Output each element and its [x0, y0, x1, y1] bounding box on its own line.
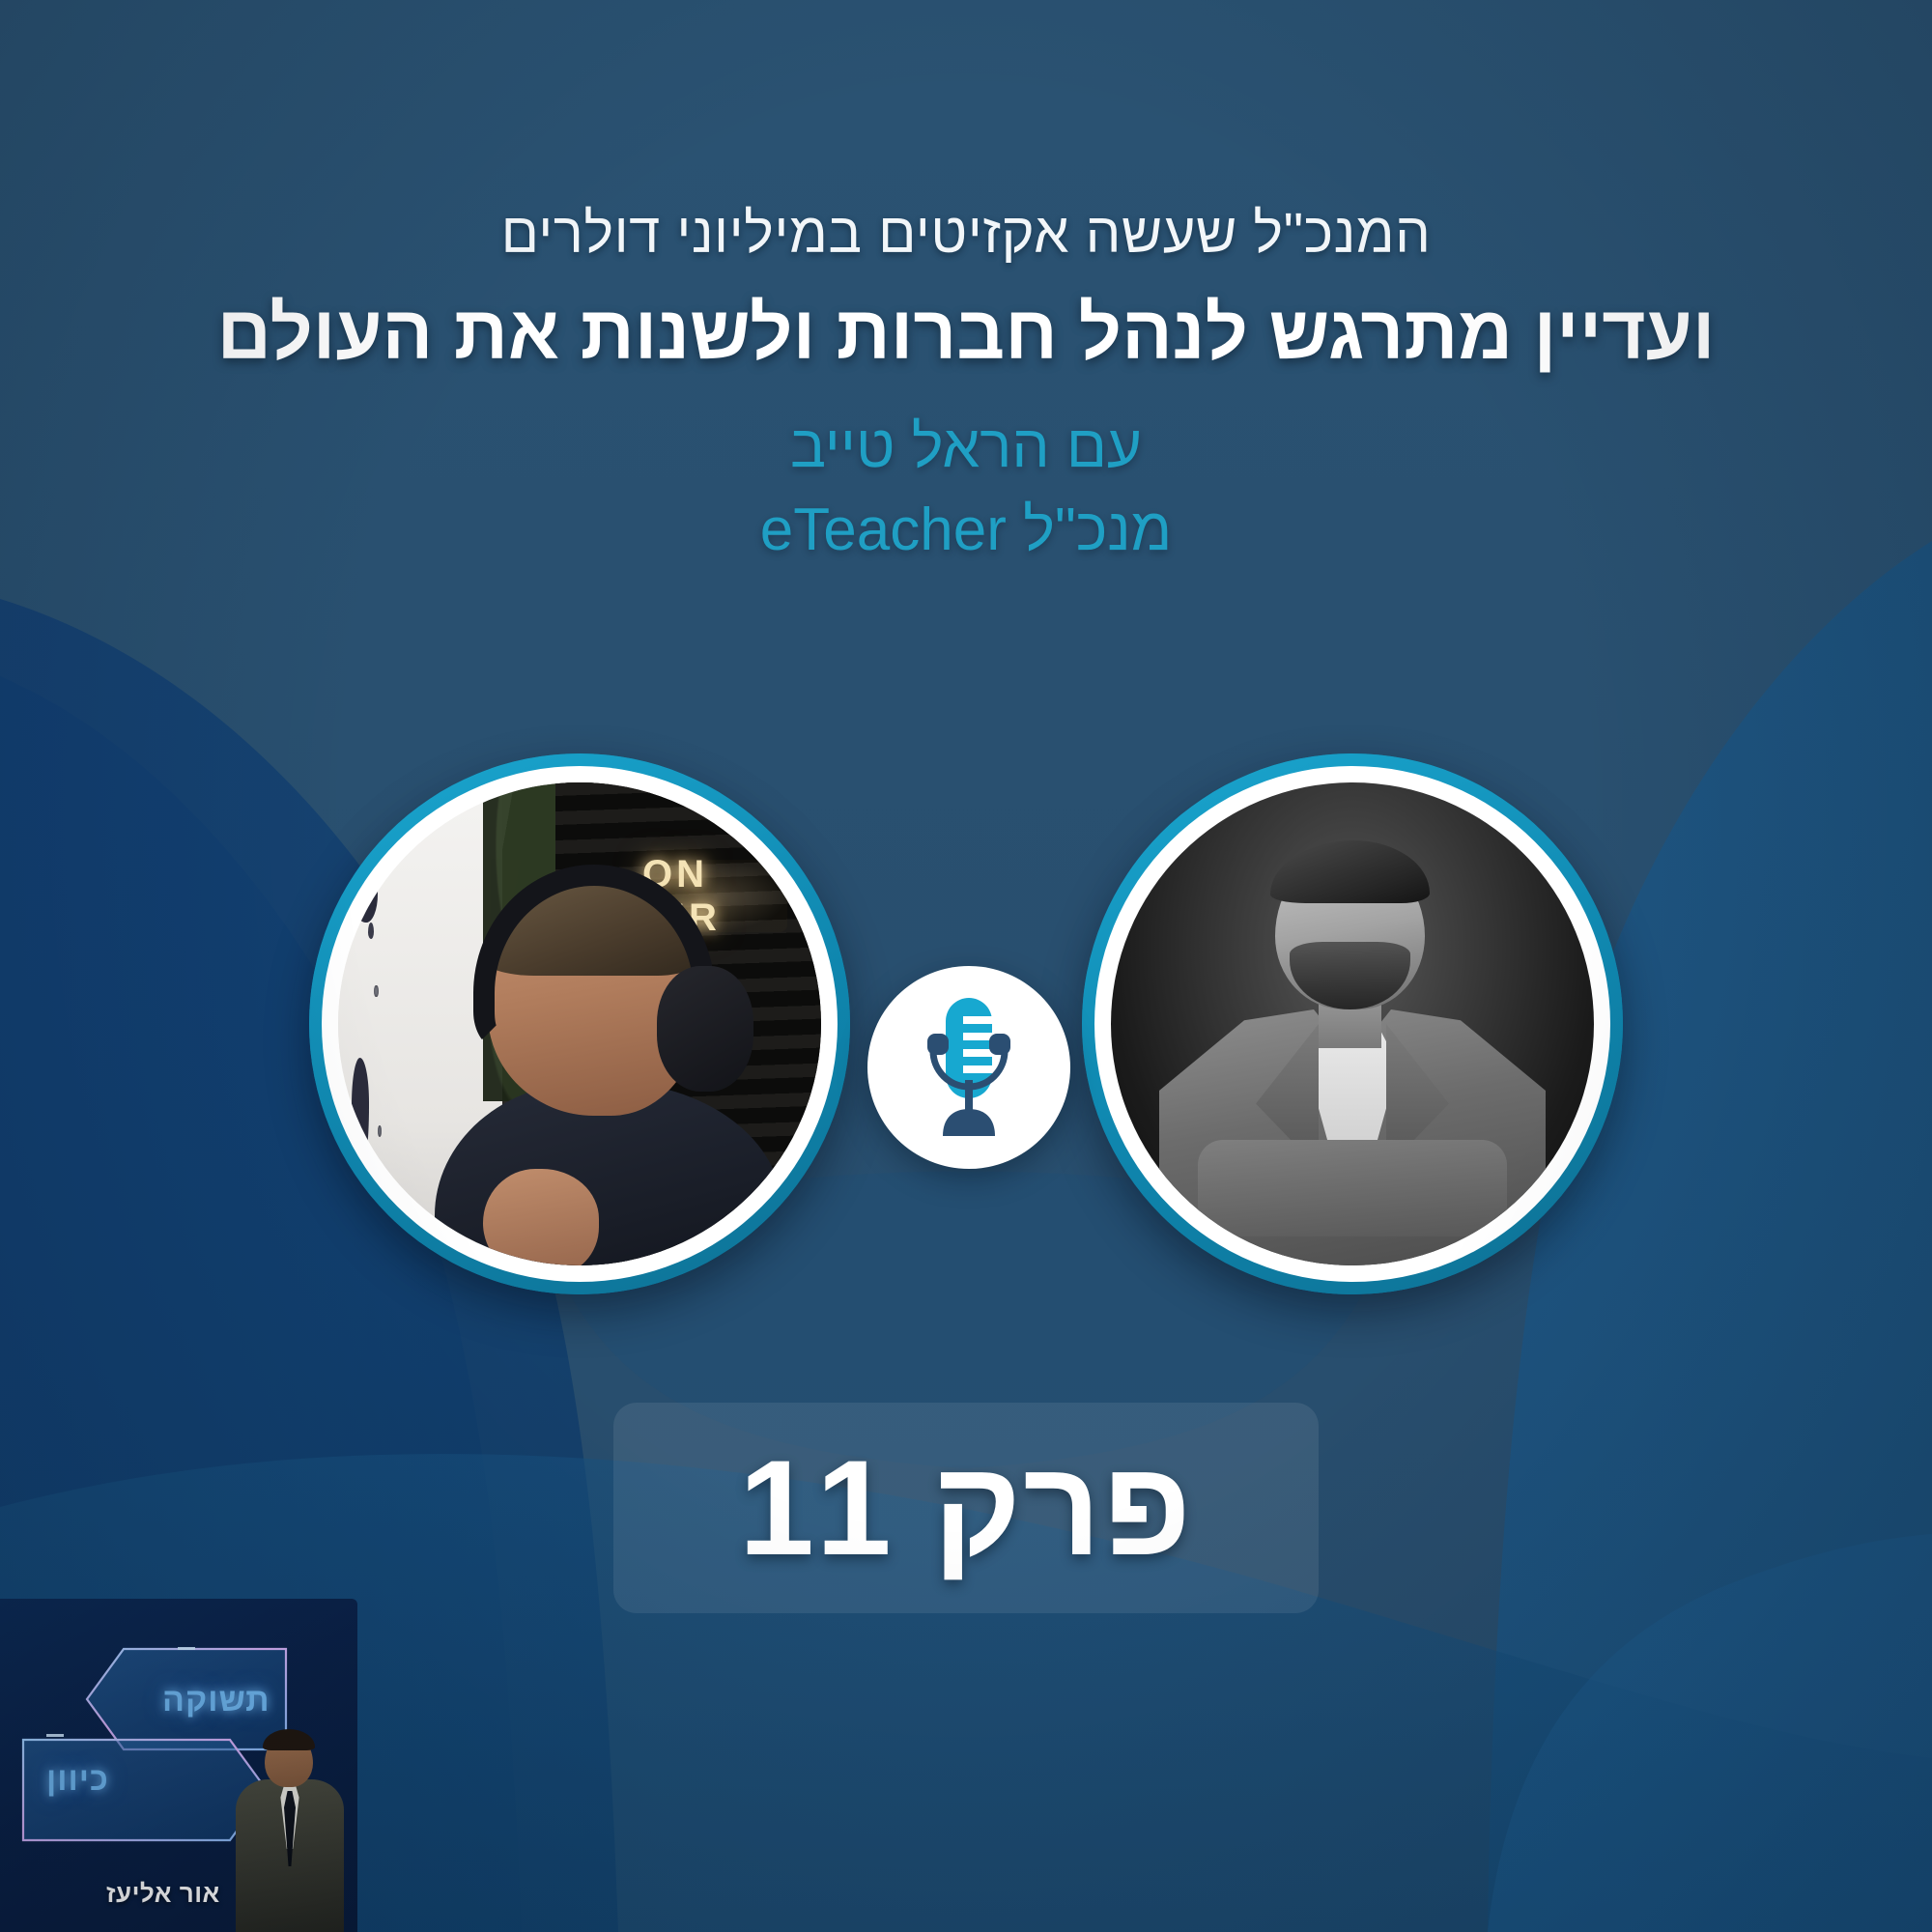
headphones-earcup — [657, 966, 753, 1092]
wall-mark-1 — [353, 860, 378, 923]
guest-crossed-arms — [1198, 1140, 1507, 1236]
microphone-icon — [867, 966, 1070, 1169]
page-title: ועדיין מתרגש לנהל חברות ולשנות את העולם — [0, 288, 1932, 379]
podcast-episode-cover: המנכ"ל שעשה אקזיטים במיליוני דולרים ועדי… — [0, 0, 1932, 1932]
wall-screw-2 — [378, 1125, 382, 1137]
episode-number-label: פרק 11 — [739, 1440, 1193, 1576]
avatar-host: ON AIR — [309, 753, 850, 1294]
guest-role: מנכ"ל eTeacher — [0, 495, 1932, 566]
cover-text-block: המנכ"ל שעשה אקזיטים במיליוני דולרים ועדי… — [0, 201, 1932, 567]
avatar-photo-host: ON AIR — [338, 782, 821, 1265]
host-hand — [483, 1169, 599, 1265]
logo-word-bottom: כיוון — [46, 1761, 109, 1799]
logo-word-top: תשוקה — [162, 1682, 270, 1719]
microphone-badge — [867, 966, 1070, 1169]
kicker-line: המנכ"ל שעשה אקזיטים במיליוני דולרים — [0, 201, 1932, 267]
wall-mark-2 — [352, 1058, 370, 1174]
episode-badge: פרק 11 — [613, 1403, 1319, 1613]
host-cutout-photo — [232, 1727, 346, 1932]
wall-screw-1 — [374, 985, 378, 997]
wall-mark-3 — [368, 923, 374, 939]
show-logo-card: תשוקה כיוון אור אליעז — [0, 1599, 357, 1932]
host-name-label: אור אליעז — [106, 1879, 220, 1909]
avatar-photo-guest — [1111, 782, 1594, 1265]
guest-name: עם הראל טייב — [0, 412, 1932, 483]
host-cutout-hair — [263, 1729, 315, 1750]
avatar-guest — [1082, 753, 1623, 1294]
